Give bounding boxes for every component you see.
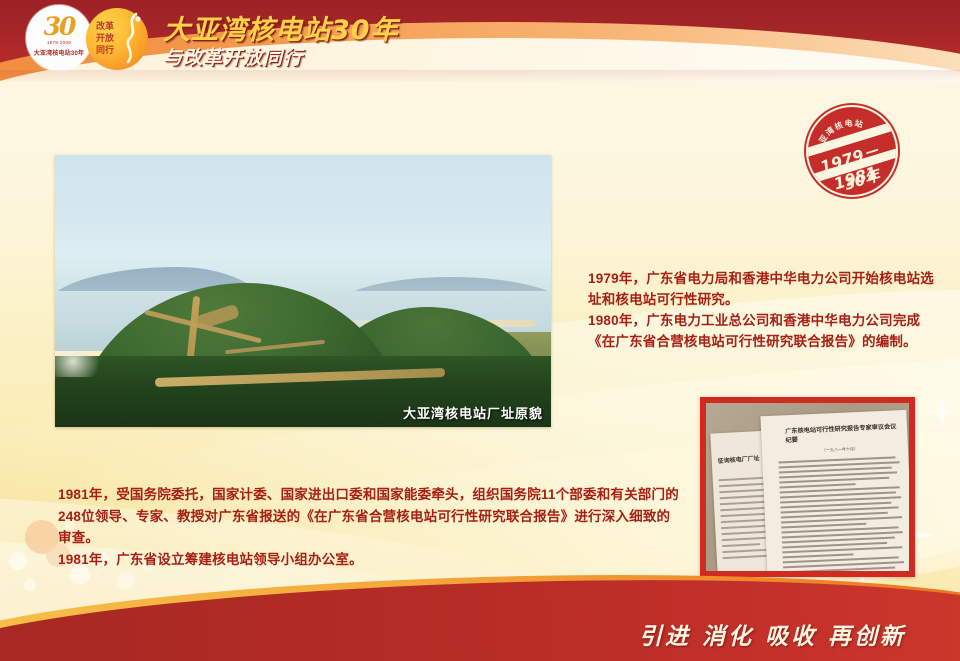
page-title: 大亚湾核电站30年	[163, 8, 399, 47]
document-front-subtitle: （一九八一年十月）	[822, 446, 858, 454]
site-photo: 大亚湾核电站厂址原貌	[55, 155, 551, 427]
ribbon-icon	[118, 12, 144, 64]
text-bottom-para-1: 1981年，受国务院委托，国家计委、国家进出口委和国家能委牵头，组织国务院11个…	[58, 484, 682, 549]
header-banner: 30 1979-2009 大亚湾核电站30年 改革 开放 同行 大亚湾核电站30…	[0, 0, 960, 82]
poster-root: 30 1979-2009 大亚湾核电站30年 改革 开放 同行 大亚湾核电站30…	[0, 0, 960, 661]
anniversary-logo-name: 大亚湾核电站30年	[26, 48, 92, 57]
photo-caption: 大亚湾核电站厂址原貌	[403, 403, 543, 422]
anniversary-logo-number: 30	[36, 12, 82, 42]
footer-slogan: 引进 消化 吸收 再创新	[639, 617, 906, 651]
photo-shore-rocks	[55, 351, 115, 377]
reform-logo-line2: 开放	[92, 32, 118, 44]
document-photo: 征询核电厂厂址 广东核电站可行性研究报告专家审议会议纪要 （一九八一年十月）	[700, 397, 915, 577]
reform-logo-line3: 同行	[92, 44, 118, 56]
document-front-title: 广东核电站可行性研究报告专家审议会议纪要	[785, 422, 898, 445]
reform-logo-line1: 改革	[92, 20, 118, 32]
text-right-para-2: 1980年，广东电力工业总公司和香港中华电力公司完成《在广东省合营核电站可行性研…	[588, 310, 940, 352]
reform-logo-text: 改革 开放 同行	[92, 20, 118, 56]
text-block-right: 1979年，广东省电力局和香港中华电力公司开始核电站选址和核电站可行性研究。 1…	[588, 268, 940, 352]
anniversary-logo-years: 1979-2009	[28, 40, 90, 45]
footer-band: 引进 消化 吸收 再创新	[0, 551, 960, 661]
anniversary-stamp: 大亚湾核电站 1979－1981 30年	[804, 103, 900, 199]
page-subtitle: 与改革开放同行	[163, 43, 303, 70]
header-shadow	[0, 70, 960, 82]
text-right-para-1: 1979年，广东省电力局和香港中华电力公司开始核电站选址和核电站可行性研究。	[588, 268, 940, 310]
stamp-body: 大亚湾核电站 1979－1981 30年	[808, 107, 896, 195]
